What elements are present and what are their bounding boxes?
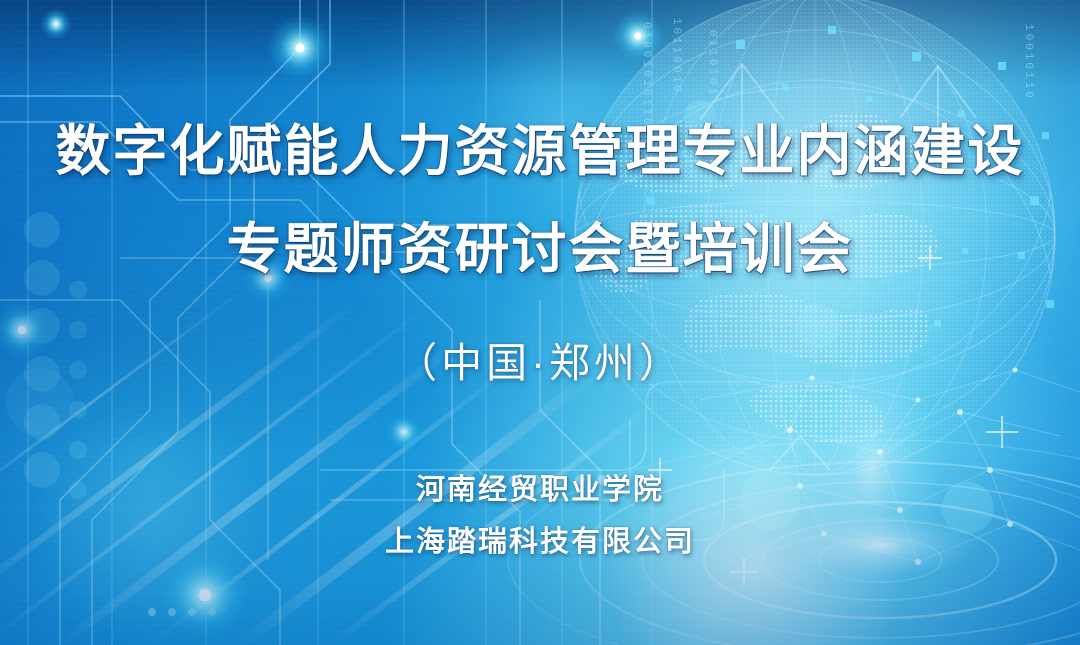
organizer-primary: 河南经贸职业学院 — [416, 466, 664, 508]
banner-location-subtitle: （中国·郑州） — [396, 329, 684, 389]
banner-content: 数字化赋能人力资源管理专业内涵建设 专题师资研讨会暨培训会 （中国·郑州） 河南… — [0, 0, 1080, 645]
conference-banner: 01001010110 10110010 0110101 10010110 — [0, 0, 1080, 645]
organizer-secondary: 上海踏瑞科技有限公司 — [385, 518, 695, 560]
banner-title-line-2: 专题师资研讨会暨培训会 — [226, 222, 853, 277]
banner-title-line-1: 数字化赋能人力资源管理专业内涵建设 — [55, 124, 1024, 179]
organizer-list: 河南经贸职业学院 上海踏瑞科技有限公司 — [385, 466, 695, 560]
